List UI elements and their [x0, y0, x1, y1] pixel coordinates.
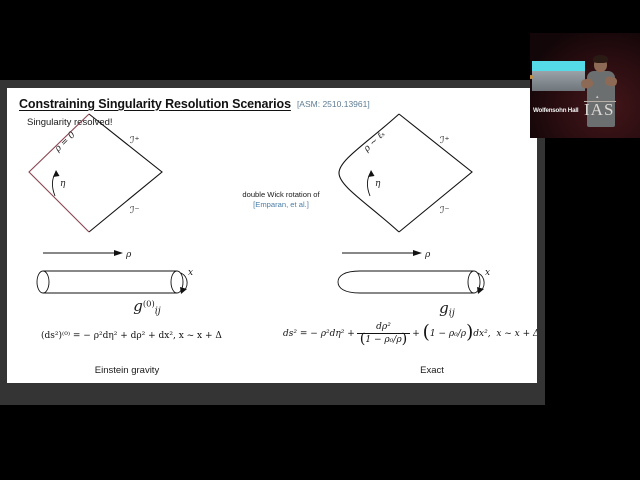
penrose-diagram-left: ρ = 0 ℐ⁺ ℐ⁻ η	[27, 110, 197, 240]
caption-right: Exact	[362, 365, 502, 376]
metric-superscript-left: (0)	[143, 298, 155, 308]
eq-right-periodicity: x ~ x + Δ	[496, 329, 537, 339]
capped-boundary-right	[339, 114, 399, 232]
cigar-outline-right	[338, 271, 474, 293]
x-label-left: x	[188, 268, 193, 278]
presentation-slide: Constraining Singularity Resolution Scen…	[7, 88, 537, 383]
eq-right-den-body: 1 − ρ₀/ρ	[365, 335, 401, 345]
eq-right-fraction: dρ²(1 − ρ₀/ρ)	[357, 322, 410, 345]
scri-edges-right	[399, 114, 472, 232]
eq-right-plus2: +	[412, 329, 420, 339]
page-title: Constraining Singularity Resolution Scen…	[19, 97, 291, 111]
eta-arrow-head-right	[368, 170, 375, 177]
eq-right-den-close: )	[402, 335, 408, 344]
scri-minus-label-left: ℐ⁻	[130, 205, 139, 216]
eta-label-left: η	[60, 179, 66, 189]
eq-right-open-paren: (	[423, 328, 430, 338]
rho-arrow-head-left	[114, 250, 123, 256]
emparan-citation: [Emparan, et al.]	[221, 200, 341, 210]
eq-right-term3: 1 − ρ₀/ρ	[430, 329, 466, 339]
institution-logo: IAS	[584, 100, 614, 120]
caption-left: Einstein gravity	[57, 365, 197, 376]
eq-right-term3-tail: dx²,	[473, 329, 490, 339]
cylinder-diagram-left: ρ x	[29, 243, 219, 298]
equation-right: ds² = − ρ²dη² +dρ²(1 − ρ₀/ρ)+ (1 − ρ₀/ρ)…	[283, 322, 537, 345]
eq-right-lhs: ds²	[283, 329, 297, 339]
eta-label-right: η	[375, 179, 381, 189]
eq-right-plus1: +	[347, 329, 355, 339]
metric-subscript-left: ij	[155, 306, 161, 317]
metric-subscript-right: ij	[449, 308, 455, 319]
speaker-figure	[585, 57, 617, 138]
scri-plus-label-right: ℐ⁺	[440, 135, 449, 146]
scri-minus-label-right: ℐ⁻	[440, 205, 449, 216]
projection-screen	[532, 61, 585, 91]
eq-right-equals: =	[300, 329, 308, 339]
rho-zero-label: ρ = 0	[52, 130, 77, 155]
eta-arrow-head-left	[53, 170, 60, 177]
double-wick-rotation-note: double Wick rotation of [Emparan, et al.…	[221, 190, 341, 211]
cylinder-left-cap-left	[37, 271, 49, 293]
rho-axis-label-left: ρ	[125, 250, 132, 260]
penrose-diagram-right: ρ ~ ℓₛ ℐ⁺ ℐ⁻ η	[337, 110, 507, 240]
speaker-video-inset[interactable]: Wolfensohn Hall ▴ IAS	[530, 33, 640, 138]
speaker-hair	[593, 55, 608, 63]
eq-right-frac-num: dρ²	[376, 322, 391, 332]
x-label-right: x	[485, 268, 490, 278]
scri-plus-label-left: ℐ⁺	[130, 135, 139, 146]
cigar-diagram-right: ρ x	[332, 243, 522, 298]
equation-left: (ds²)⁽⁰⁾ = − ρ²dη² + dρ² + dx², x ~ x + …	[41, 331, 222, 341]
rho-axis-label-right: ρ	[424, 250, 431, 260]
video-player-stage: Constraining Singularity Resolution Scen…	[0, 0, 640, 480]
venue-label: Wolfensohn Hall	[533, 107, 578, 114]
arxiv-reference: [ASM: 2510.13961]	[297, 99, 370, 109]
eq-right-term1: − ρ²dη²	[310, 329, 344, 339]
wick-rotation-text: double Wick rotation of	[221, 190, 341, 200]
video-frame[interactable]: Constraining Singularity Resolution Scen…	[0, 0, 640, 480]
metric-symbol-left: g(0)ij	[67, 297, 227, 317]
scri-edges-left	[89, 114, 162, 232]
singular-boundary-left	[29, 114, 89, 232]
speaker-right-arm	[604, 76, 617, 87]
rho-arrow-head-right	[413, 250, 422, 256]
metric-symbol-right: gij	[367, 299, 527, 319]
